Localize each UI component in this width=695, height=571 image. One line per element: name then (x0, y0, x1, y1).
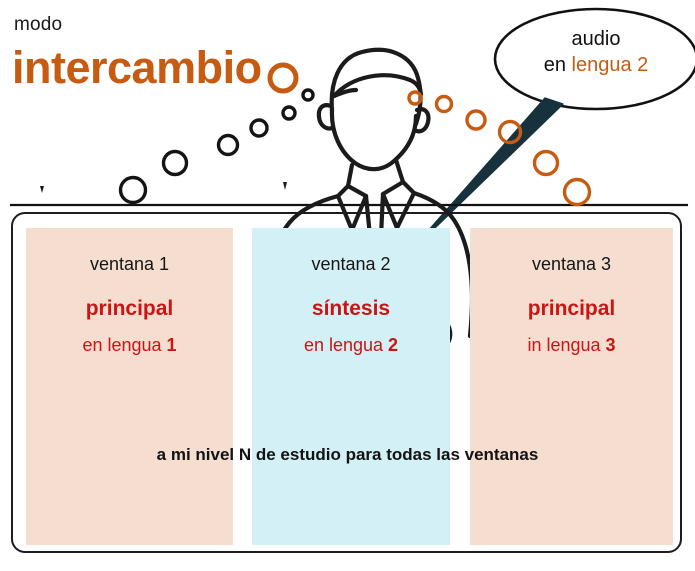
stray-marks (40, 182, 287, 193)
window-role-3: principal (470, 297, 673, 321)
bubble-circle (121, 178, 146, 203)
window-column-2[interactable]: ventana 2 síntesis en lengua 2 (252, 228, 450, 545)
window-role-2: síntesis (252, 297, 450, 321)
diagram-canvas: modo intercambio (0, 0, 695, 571)
bubble-circle (535, 152, 558, 175)
bubble-circle (270, 65, 296, 91)
bubble-circles-right (409, 92, 590, 205)
window-column-3[interactable]: ventana 3 principal in lengua 3 (470, 228, 673, 545)
window-language-2: en lengua 2 (252, 335, 450, 356)
panel-footnote: a mi nivel N de estudio para todas las v… (0, 445, 695, 465)
bubble-circle (500, 122, 521, 143)
bubble-circle (565, 180, 590, 205)
bubble-circle (164, 152, 187, 175)
window-label-1: ventana 1 (26, 254, 233, 275)
bubble-circle (437, 97, 452, 112)
bubble-circles-left-orange (270, 65, 296, 91)
bubble-circle (409, 92, 421, 104)
page-title: intercambio (12, 42, 262, 94)
window-language-1: en lengua 1 (26, 335, 233, 356)
window-language-3: in lengua 3 (470, 335, 673, 356)
window-column-2-content: ventana 2 síntesis en lengua 2 (252, 254, 450, 356)
window-role-1: principal (26, 297, 233, 321)
bubble-circle (303, 90, 313, 100)
windows-columns: ventana 1 principal en lengua 1 ventana … (26, 228, 673, 545)
window-column-1-content: ventana 1 principal en lengua 1 (26, 254, 233, 356)
speech-bubble-line-2-accent: lengua 2 (572, 54, 649, 76)
window-column-1[interactable]: ventana 1 principal en lengua 1 (26, 228, 233, 545)
bubble-circles-left (121, 90, 314, 203)
window-label-3: ventana 3 (470, 254, 673, 275)
window-language-3-number: 3 (606, 335, 616, 355)
eyebrow-label: modo (14, 14, 62, 36)
speech-bubble-text: audio en lengua 2 (512, 26, 680, 78)
window-language-2-prefix: en lengua (304, 335, 388, 355)
bubble-circle (467, 111, 485, 129)
speech-bubble-line-2: en lengua 2 (512, 52, 680, 78)
window-label-2: ventana 2 (252, 254, 450, 275)
window-language-1-number: 1 (167, 335, 177, 355)
window-column-3-content: ventana 3 principal in lengua 3 (470, 254, 673, 356)
bubble-circle (219, 136, 238, 155)
window-language-1-prefix: en lengua (82, 335, 166, 355)
bubble-circle (251, 120, 267, 136)
speech-bubble-line-2-prefix: en (544, 54, 572, 76)
speech-bubble-line-1: audio (512, 26, 680, 52)
bubble-circle (283, 107, 295, 119)
window-language-2-number: 2 (388, 335, 398, 355)
window-language-3-prefix: in lengua (527, 335, 605, 355)
